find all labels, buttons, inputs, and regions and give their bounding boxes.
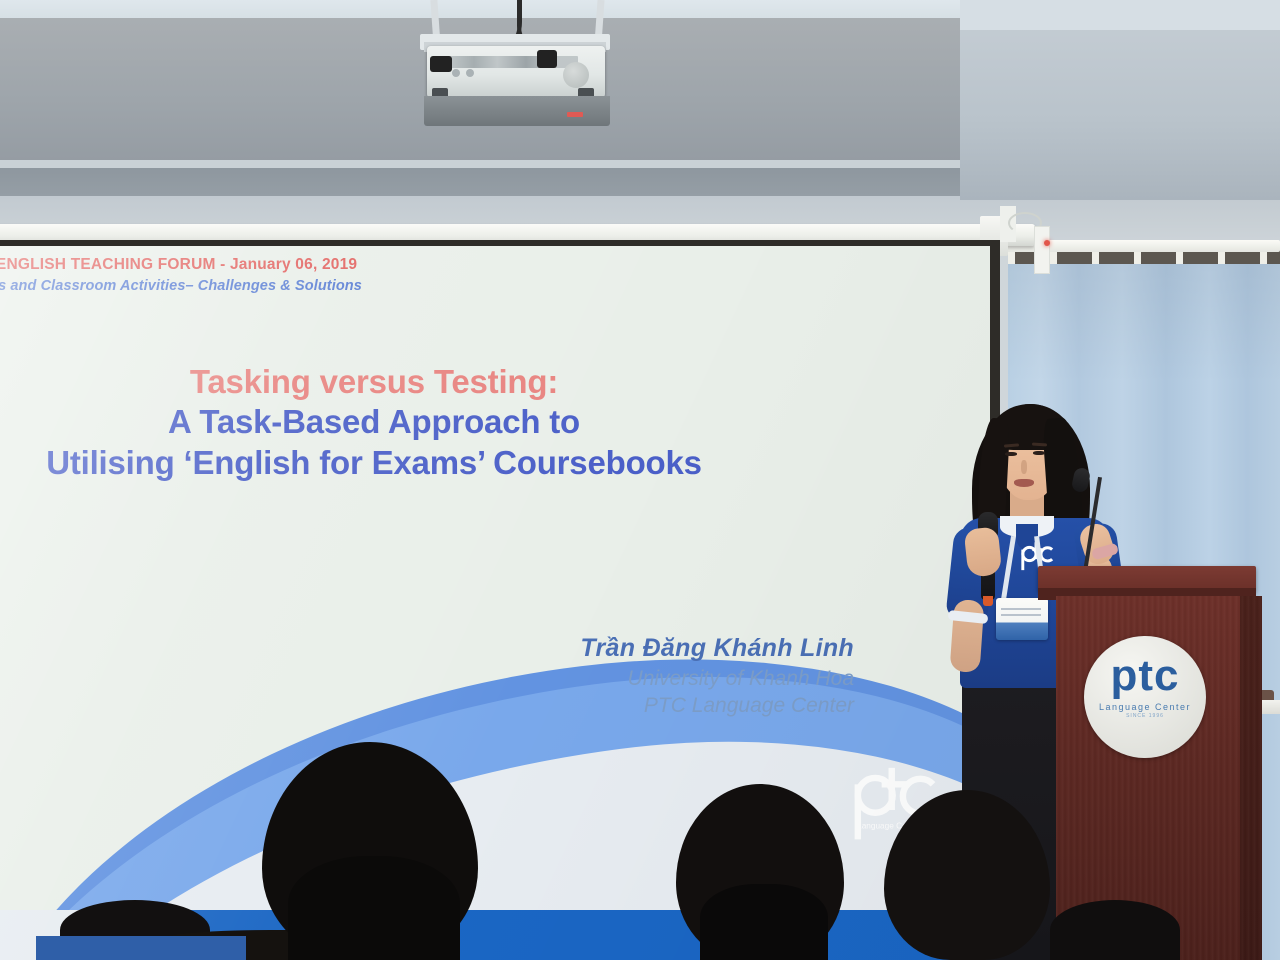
speaker-name-badge [996, 598, 1048, 640]
presentation-photo: C ENGLISH TEACHING FORUM - January 06, 2… [0, 0, 1280, 960]
slide-title-line-1: Tasking versus Testing: [0, 362, 754, 402]
presenter-name: Trần Đăng Khánh Linh [324, 632, 854, 665]
speaker-mouth [1014, 479, 1034, 487]
podium-logo-disc: ptc Language Center SINCE 1996 [1084, 636, 1206, 758]
speaker-eye-left [1005, 452, 1017, 456]
slide-header-line-2: ooks and Classroom Activities– Challenge… [0, 278, 362, 294]
podium-logo-text: ptc [1084, 654, 1206, 698]
projector-base [424, 96, 610, 126]
handheld-microphone-tip [983, 596, 993, 606]
badge-text-line-1 [1001, 608, 1041, 610]
screen-indicator-light [1044, 240, 1050, 246]
projector-knob-2 [466, 69, 474, 77]
audience-head-1-back [288, 856, 460, 960]
podium-logo-since: SINCE 1996 [1084, 713, 1206, 719]
projector-lens [563, 62, 589, 88]
projector-plug-left [430, 56, 452, 72]
wall-right-top-strip [960, 0, 1280, 30]
auditorium-seat [36, 936, 246, 960]
presenter-affiliation-university: University of Khanh Hoa [324, 665, 854, 693]
projector-ports [448, 56, 578, 68]
slide-title-block: Tasking versus Testing: A Task-Based App… [0, 362, 754, 483]
screen-control-clip [1034, 226, 1050, 274]
audience-head-far-right [1050, 900, 1180, 960]
podium-logo-text-block: ptc Language Center SINCE 1996 [1084, 654, 1206, 719]
speaker-hand-left-holding-mic [964, 526, 1003, 577]
wall-right-section [960, 0, 1280, 200]
badge-text-line-2 [1001, 614, 1041, 616]
projector-knob-1 [452, 69, 460, 77]
slide-presenter-block: Trần Đăng Khánh Linh University of Khanh… [324, 632, 854, 720]
audience-head-2-bun [700, 884, 828, 960]
slide-header-line-1: C ENGLISH TEACHING FORUM - January 06, 2… [0, 256, 357, 274]
speaker-nose [1021, 460, 1027, 474]
presentation-slide: C ENGLISH TEACHING FORUM - January 06, 2… [0, 246, 990, 960]
presenter-affiliation-center: PTC Language Center [324, 692, 854, 720]
speaker-eye-right [1033, 451, 1045, 455]
slide-title-line-2: A Task-Based Approach to [0, 402, 754, 442]
slide-title-line-3: Utilising ‘English for Exams’ Coursebook… [0, 443, 754, 483]
projector-plug-right [537, 50, 557, 68]
projector-indicator-light [567, 112, 583, 117]
podium-logo-subtitle: Language Center [1084, 702, 1206, 712]
